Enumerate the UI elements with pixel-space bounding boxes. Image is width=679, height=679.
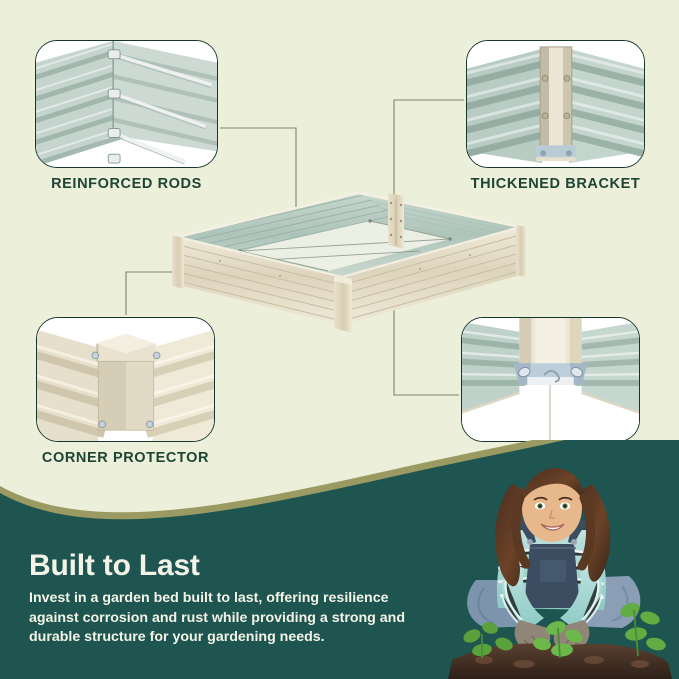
callout-frame: [35, 40, 218, 168]
product-infographic: REINFORCED RODS: [0, 0, 679, 679]
body-copy: Invest in a garden bed built to last, of…: [29, 589, 419, 648]
callout-reinforced-rods[interactable]: REINFORCED RODS: [35, 40, 218, 194]
corrugated-panel-with-rods-icon: [36, 41, 217, 167]
callout-frame: [466, 40, 645, 168]
callout-thickened-bracket[interactable]: THICKENED BRACKET: [466, 40, 645, 194]
callout-frame: [461, 317, 640, 442]
headline: Built to Last: [29, 548, 419, 584]
ground-pin-bracket-icon: [462, 318, 639, 441]
corner-cap-icon: [37, 318, 214, 441]
callout-label: THICKENED BRACKET: [466, 174, 645, 194]
bottom-text-block: Built to Last Invest in a garden bed bui…: [29, 548, 419, 648]
gardener-planting-seedlings-photo: [424, 468, 679, 679]
callout-label: REINFORCED RODS: [35, 174, 218, 194]
callout-frame: [36, 317, 215, 442]
corner-bracket-plate-icon: [467, 41, 644, 167]
